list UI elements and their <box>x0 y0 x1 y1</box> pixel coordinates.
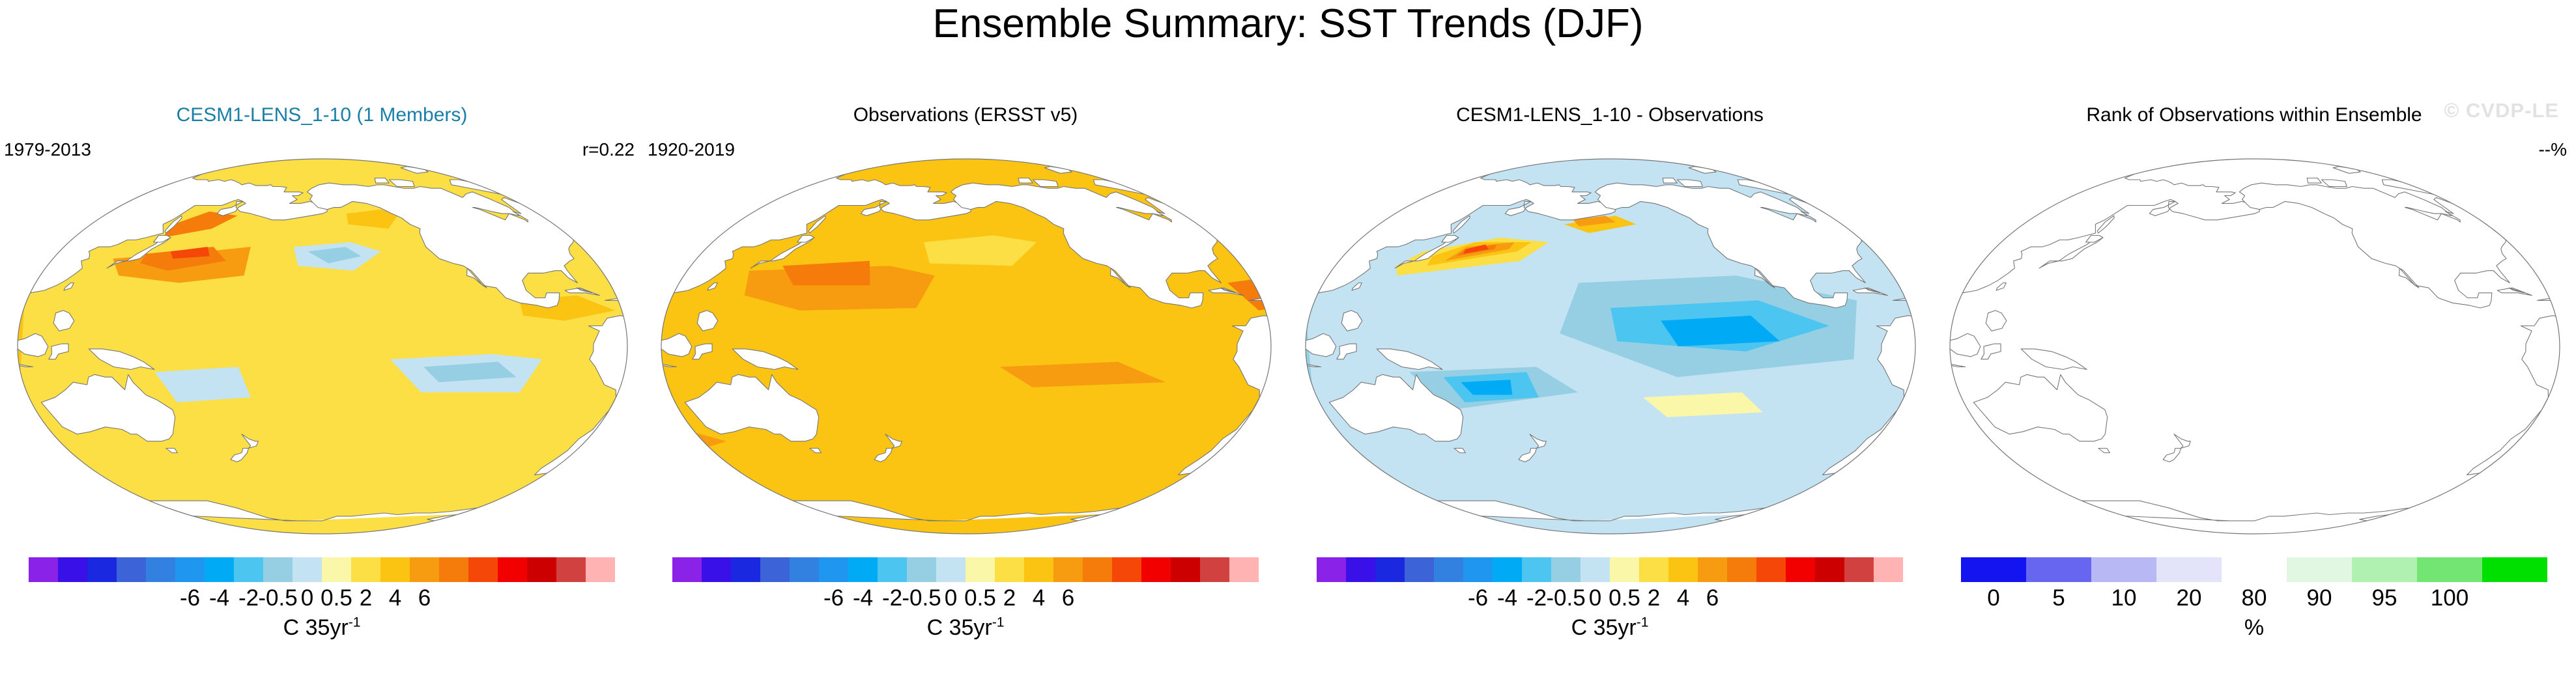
panel-observations: Observations (ERSST v5) 1920-2019 -6-4-2… <box>644 104 1287 677</box>
colorbar-swatch <box>586 557 615 582</box>
panel-difference: CESM1-LENS_1-10 - Observations -6-4-2-0.… <box>1288 104 1932 677</box>
colorbar-swatch <box>351 557 380 582</box>
colorbar-swatch <box>380 557 410 582</box>
colorbar-swatch <box>1405 557 1434 582</box>
colorbar-swatch <box>410 557 439 582</box>
panel-title: Rank of Observations within Ensemble <box>1932 104 2576 126</box>
map-canvas <box>653 151 1280 542</box>
colorbar-swatch <box>234 557 263 582</box>
colorbar-swatch <box>293 557 322 582</box>
colorbar-tick-label: 6 <box>418 585 431 612</box>
colorbar-swatch <box>1493 557 1522 582</box>
colorbar: -6-4-2-0.500.5246 C 35yr-1 <box>0 552 644 669</box>
colorbar-swatch <box>1844 557 1874 582</box>
colorbar-swatch <box>498 557 527 582</box>
colorbar: -6-4-2-0.500.5246 C 35yr-1 <box>1288 552 1932 669</box>
colorbar-swatch <box>527 557 556 582</box>
colorbar-swatch <box>1112 557 1141 582</box>
colorbar-tick-label: 100 <box>2431 585 2469 612</box>
colorbar-ticks: -6-4-2-0.500.5246 <box>672 585 1259 613</box>
colorbar-swatch <box>117 557 146 582</box>
colorbar-tick-label: 0 <box>945 585 957 612</box>
colorbar-swatch <box>1434 557 1463 582</box>
map-canvas <box>9 151 636 542</box>
colorbar-swatch <box>995 557 1024 582</box>
colorbar-swatch <box>760 557 790 582</box>
colorbar-tick-label: 6 <box>1706 585 1719 612</box>
colorbar-swatch <box>1522 557 1551 582</box>
colorbar-unit-label: C 35yr-1 <box>0 615 644 641</box>
colorbar-swatch <box>2352 557 2417 582</box>
colorbar-swatch <box>87 557 117 582</box>
colorbar-tick-label: 2 <box>360 585 372 612</box>
colorbar-tick-label: -0.5 <box>258 585 297 612</box>
colorbar-swatches <box>1961 557 2547 582</box>
colorbar-swatch <box>2156 557 2222 582</box>
colorbar: -6-4-2-0.500.5246 C 35yr-1 <box>644 552 1287 669</box>
colorbar-swatch <box>2287 557 2352 582</box>
colorbar-tick-label: -6 <box>823 585 844 612</box>
colorbar-tick-label: -2 <box>1526 585 1547 612</box>
colorbar-swatch <box>1786 557 1815 582</box>
colorbar-tick-label: 0 <box>1589 585 1601 612</box>
colorbar-swatch <box>1024 557 1053 582</box>
colorbar-tick-label: 2 <box>1648 585 1660 612</box>
colorbar-swatch <box>2091 557 2156 582</box>
colorbar-tick-label: 20 <box>2177 585 2202 612</box>
colorbar-swatch <box>790 557 819 582</box>
colorbar-swatches <box>1317 557 1903 582</box>
colorbar-swatch <box>907 557 936 582</box>
panel-title: CESM1-LENS_1-10 (1 Members) <box>0 104 644 126</box>
colorbar-swatch <box>1815 557 1844 582</box>
colorbar-ticks: -6-4-2-0.500.5246 <box>1317 585 1903 613</box>
colorbar-swatch <box>819 557 848 582</box>
colorbar-tick-label: -6 <box>180 585 200 612</box>
colorbar-swatch <box>322 557 351 582</box>
colorbar-swatch <box>848 557 878 582</box>
colorbar-tick-label: -4 <box>1497 585 1517 612</box>
colorbar-swatch <box>205 557 234 582</box>
colorbar-unit-label: C 35yr-1 <box>1288 615 1932 641</box>
map-svg-4 <box>1941 151 2568 542</box>
colorbar-tick-label: -0.5 <box>902 585 941 612</box>
colorbar-tick-label: 95 <box>2372 585 2397 612</box>
colorbar-swatch <box>439 557 468 582</box>
colorbar-tick-label: 0 <box>1987 585 1999 612</box>
colorbar-swatch <box>1171 557 1200 582</box>
colorbar-swatch <box>2222 557 2287 582</box>
colorbar-tick-label: 0 <box>301 585 313 612</box>
panel-title: Observations (ERSST v5) <box>644 104 1287 126</box>
colorbar-tick-label: -0.5 <box>1546 585 1585 612</box>
colorbar-swatch <box>1727 557 1756 582</box>
colorbar-swatch <box>878 557 907 582</box>
colorbar-swatch <box>2026 557 2091 582</box>
colorbar-swatches <box>672 557 1259 582</box>
colorbar-tick-label: 4 <box>1033 585 1045 612</box>
colorbar-tick-label: 2 <box>1003 585 1016 612</box>
colorbar-swatch <box>556 557 586 582</box>
colorbar-tick-label: -4 <box>853 585 873 612</box>
colorbar-swatch <box>1375 557 1405 582</box>
colorbar-tick-label: -2 <box>238 585 259 612</box>
colorbar-unit-label: % <box>1932 615 2576 641</box>
colorbar-tick-label: 4 <box>389 585 401 612</box>
colorbar-swatch <box>1317 557 1346 582</box>
colorbar-swatch <box>263 557 293 582</box>
colorbar-swatch <box>1141 557 1171 582</box>
colorbar-tick-label: 4 <box>1677 585 1689 612</box>
colorbar-ticks: -6-4-2-0.500.5246 <box>29 585 615 613</box>
map-canvas <box>1297 151 1924 542</box>
colorbar-tick-label: 5 <box>2052 585 2065 612</box>
colorbar-swatch <box>58 557 87 582</box>
colorbar-tick-label: 0.5 <box>321 585 352 612</box>
map-canvas <box>1941 151 2568 542</box>
colorbar-swatch <box>731 557 760 582</box>
panel-cesm1-lens: CESM1-LENS_1-10 (1 Members) 1979-2013 r=… <box>0 104 644 677</box>
colorbar-swatch <box>468 557 498 582</box>
colorbar-swatch <box>672 557 702 582</box>
colorbar-tick-label: -6 <box>1468 585 1488 612</box>
colorbar-tick-label: 80 <box>2242 585 2267 612</box>
colorbar-swatch <box>1200 557 1229 582</box>
map-svg-3 <box>1297 151 1924 542</box>
colorbar-swatch <box>1581 557 1610 582</box>
colorbar-swatch <box>2417 557 2482 582</box>
colorbar-swatch <box>2482 557 2547 582</box>
colorbar-swatch <box>1463 557 1493 582</box>
colorbar-swatch <box>1961 557 2026 582</box>
map-svg-2 <box>653 151 1280 542</box>
colorbar-tick-label: 90 <box>2307 585 2332 612</box>
colorbar-tick-label: 0.5 <box>964 585 996 612</box>
colorbar-swatch <box>29 557 58 582</box>
colorbar-swatch <box>1346 557 1375 582</box>
colorbar-tick-label: -4 <box>209 585 229 612</box>
colorbar-ticks: 051020809095100 <box>1961 585 2547 613</box>
panel-title: CESM1-LENS_1-10 - Observations <box>1288 104 1932 126</box>
colorbar-swatch <box>966 557 995 582</box>
colorbar-swatch <box>1698 557 1727 582</box>
colorbar-swatch <box>936 557 966 582</box>
colorbar-tick-label: 10 <box>2111 585 2137 612</box>
colorbar: 051020809095100 % <box>1932 552 2576 669</box>
colorbar-swatch <box>1083 557 1112 582</box>
colorbar-swatch <box>1668 557 1698 582</box>
colorbar-swatch <box>1229 557 1259 582</box>
colorbar-tick-label: 0.5 <box>1609 585 1640 612</box>
colorbar-tick-label: 6 <box>1062 585 1074 612</box>
colorbar-tick-label: -2 <box>882 585 902 612</box>
page-title: Ensemble Summary: SST Trends (DJF) <box>0 3 2576 46</box>
map-svg-1 <box>9 151 636 542</box>
colorbar-swatch <box>1551 557 1581 582</box>
colorbar-swatches <box>29 557 615 582</box>
colorbar-swatch <box>1053 557 1083 582</box>
colorbar-swatch <box>702 557 731 582</box>
colorbar-swatch <box>1756 557 1786 582</box>
colorbar-unit-label: C 35yr-1 <box>644 615 1287 641</box>
colorbar-swatch <box>1610 557 1639 582</box>
colorbar-swatch <box>175 557 205 582</box>
colorbar-swatch <box>146 557 175 582</box>
colorbar-swatch <box>1874 557 1903 582</box>
colorbar-swatch <box>1639 557 1668 582</box>
panel-rank: Rank of Observations within Ensemble --%… <box>1932 104 2576 677</box>
